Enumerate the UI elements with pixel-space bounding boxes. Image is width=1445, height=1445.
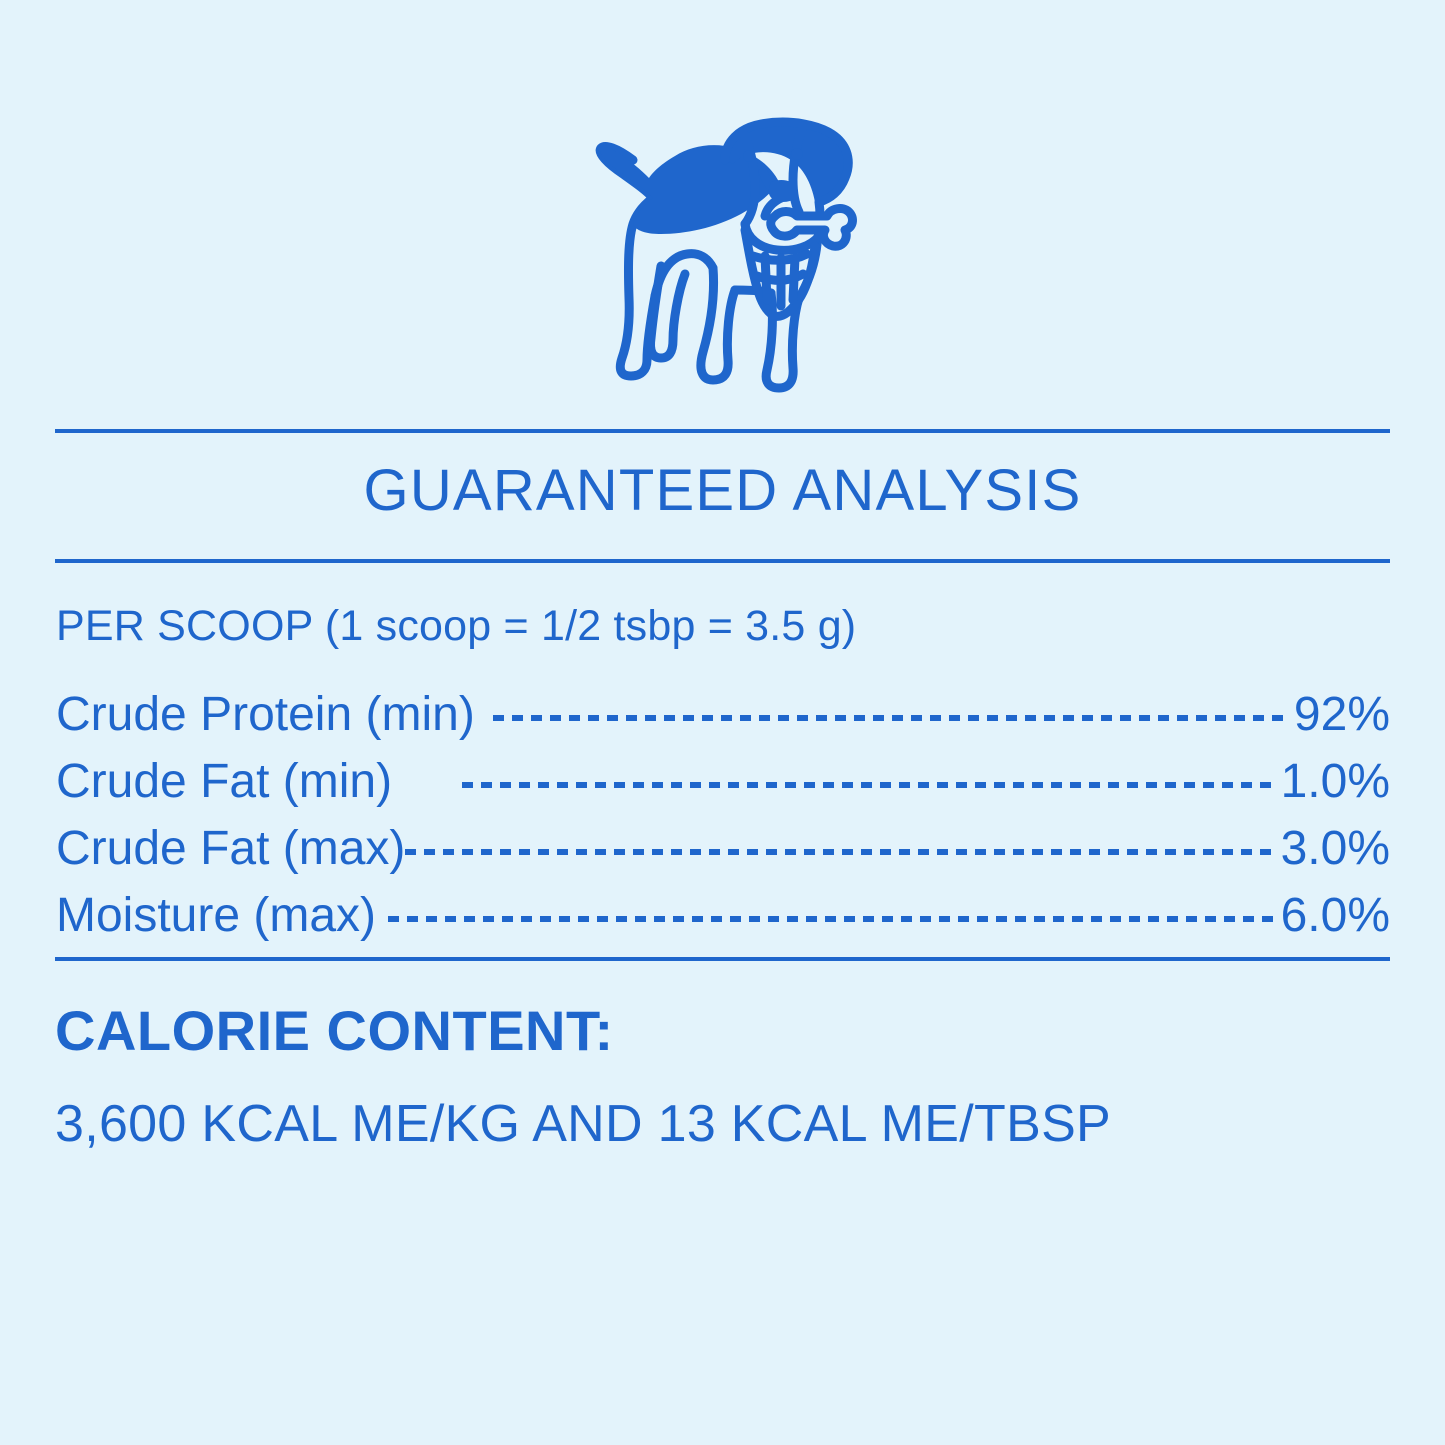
nutrition-panel: GUARANTEED ANALYSIS PER SCOOP (1 scoop =… — [0, 0, 1445, 1445]
nutrient-value: 3.0% — [1281, 825, 1390, 873]
calorie-content-value: 3,600 KCAL ME/KG AND 13 KCAL ME/TBSP — [55, 1098, 1111, 1150]
page-title: GUARANTEED ANALYSIS — [0, 462, 1445, 520]
dotted-leader — [388, 883, 1273, 931]
guaranteed-analysis-table: Crude Protein (min) 92% Crude Fat (min) … — [56, 682, 1390, 950]
dotted-leader — [493, 682, 1288, 730]
dotted-leader — [405, 816, 1272, 864]
table-row: Crude Protein (min) 92% — [56, 682, 1390, 749]
nutrient-value: 6.0% — [1281, 892, 1390, 940]
nutrient-value: 1.0% — [1281, 758, 1390, 806]
nutrient-label: Crude Fat (max) — [56, 825, 405, 873]
table-row: Moisture (max) 6.0% — [56, 883, 1390, 950]
nutrient-label: Crude Protein (min) — [56, 691, 475, 739]
table-row: Crude Fat (max) 3.0% — [56, 816, 1390, 883]
nutrient-label: Crude Fat (min) — [56, 758, 392, 806]
divider-above-calories — [55, 957, 1390, 961]
nutrient-label: Moisture (max) — [56, 892, 376, 940]
table-row: Crude Fat (min) 1.0% — [56, 749, 1390, 816]
divider-under-title — [55, 559, 1390, 563]
serving-note: PER SCOOP (1 scoop = 1/2 tsbp = 3.5 g) — [56, 605, 856, 648]
dotted-leader — [462, 749, 1279, 797]
divider-top — [55, 429, 1390, 433]
nutrient-value: 92% — [1294, 691, 1390, 739]
dog-with-bone-logo — [575, 108, 870, 398]
calorie-content-heading: CALORIE CONTENT: — [55, 1003, 614, 1059]
